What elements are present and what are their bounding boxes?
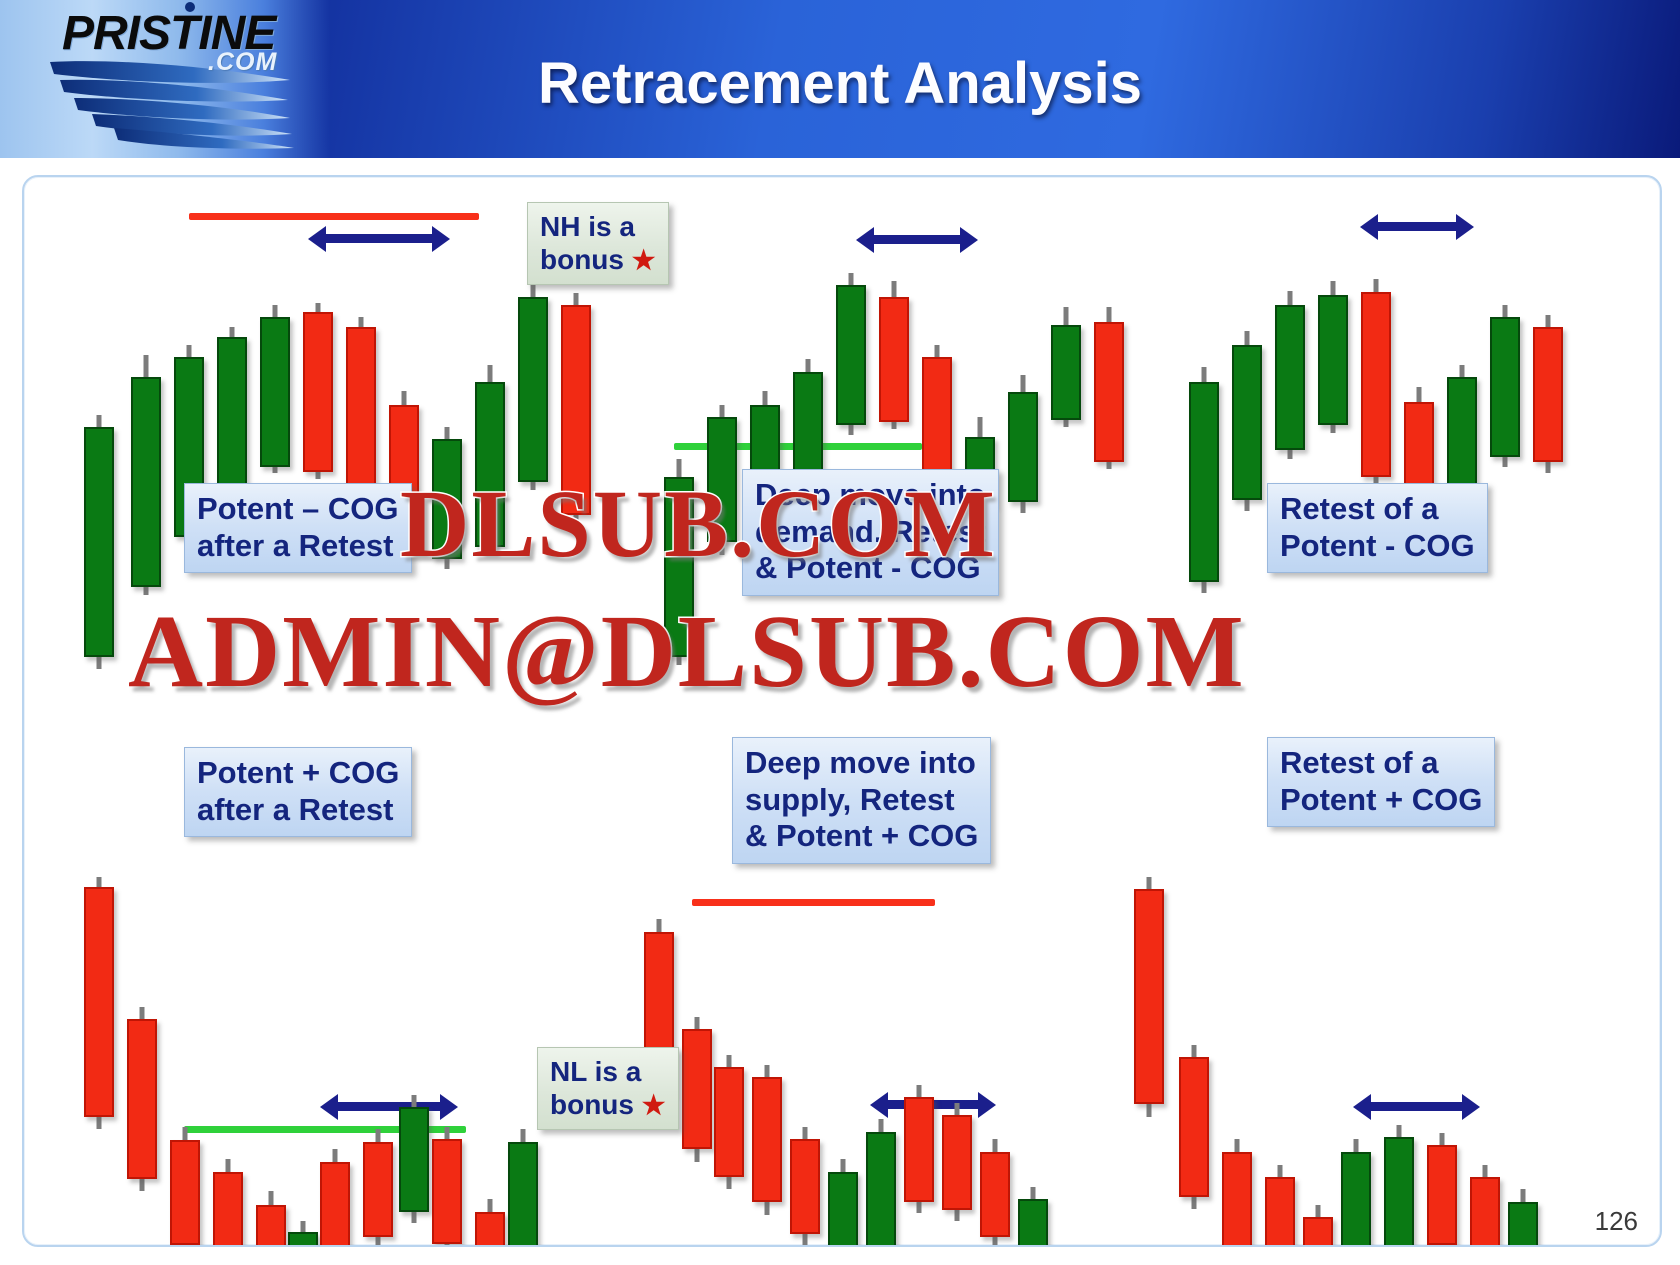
candle-down xyxy=(1134,877,1164,1117)
candle-body xyxy=(320,1162,350,1247)
candle-down xyxy=(1361,279,1391,487)
resistance-line-top-left xyxy=(189,213,479,220)
callout-line: Potent – COG xyxy=(197,491,399,528)
candle-body xyxy=(1265,1177,1295,1247)
candle-body xyxy=(1470,1177,1500,1247)
candle-down xyxy=(84,877,114,1129)
candle-body xyxy=(170,1140,200,1245)
candle-body xyxy=(1490,317,1520,457)
candle-body xyxy=(1427,1145,1457,1245)
candle-down xyxy=(1222,1139,1252,1247)
candle-body xyxy=(1533,327,1563,462)
page-title: Retracement Analysis xyxy=(0,50,1680,117)
candle-up xyxy=(1275,291,1305,459)
candle-down xyxy=(714,1055,744,1189)
candle-up xyxy=(508,1129,538,1247)
candle-body xyxy=(399,1107,429,1212)
callout-line: Potent + COG xyxy=(1280,782,1482,819)
candle-down xyxy=(980,1139,1010,1247)
candle-down xyxy=(320,1149,350,1247)
callout-retest-potent-minus[interactable]: Retest of a Potent - COG xyxy=(1267,483,1488,573)
candle-up xyxy=(1008,375,1038,513)
candle-down xyxy=(1094,307,1124,469)
candle-body xyxy=(1189,382,1219,582)
callout-line: Deep move into xyxy=(745,745,978,782)
page-number: 126 xyxy=(1595,1206,1638,1237)
callout-line: bonus ★ xyxy=(550,1088,666,1121)
resistance-line-bottom-middle xyxy=(692,899,935,906)
candle-body xyxy=(828,1172,858,1247)
candle-body xyxy=(363,1142,393,1237)
callout-line: Retest of a xyxy=(1280,745,1482,782)
candle-body xyxy=(1134,889,1164,1104)
candle-body xyxy=(790,1139,820,1234)
candle-up xyxy=(1189,367,1219,593)
candle-body xyxy=(1275,305,1305,450)
candle-body xyxy=(752,1077,782,1202)
candle-body xyxy=(1341,1152,1371,1247)
slide-header: PRISTINE .COM Retracement Analysis xyxy=(0,0,1680,158)
candle-body xyxy=(866,1132,896,1247)
candle-body xyxy=(1179,1057,1209,1197)
candle-down xyxy=(170,1127,200,1247)
callout-potent-plus-cog[interactable]: Potent + COG after a Retest xyxy=(184,747,412,837)
candle-body xyxy=(942,1115,972,1210)
candle-body xyxy=(714,1067,744,1177)
candle-down xyxy=(475,1199,505,1247)
candle-down xyxy=(752,1065,782,1215)
candle-up xyxy=(1508,1189,1538,1247)
candle-up xyxy=(1490,305,1520,467)
candle-body xyxy=(1384,1137,1414,1247)
candle-up xyxy=(217,327,247,503)
candle-body xyxy=(879,297,909,422)
callout-line: bonus ★ xyxy=(540,243,656,276)
watermark-email: ADMIN@DLSUB.COM xyxy=(128,592,1246,711)
callout-line: NH is a xyxy=(540,210,656,243)
candle-body xyxy=(1094,322,1124,462)
candle-down xyxy=(303,303,333,479)
callout-nl-bonus[interactable]: NL is a bonus ★ xyxy=(537,1047,679,1130)
candle-body xyxy=(1018,1199,1048,1247)
star-icon: ★ xyxy=(642,1090,666,1120)
candle-body xyxy=(904,1097,934,1202)
callout-potent-minus-cog[interactable]: Potent – COG after a Retest xyxy=(184,483,412,573)
candle-down xyxy=(790,1127,820,1245)
candle-body xyxy=(518,297,548,482)
candle-body xyxy=(1303,1217,1333,1247)
candle-up xyxy=(399,1095,429,1223)
candle-body xyxy=(1222,1152,1252,1247)
candle-up xyxy=(518,285,548,490)
candle-down xyxy=(432,1127,462,1247)
candle-up xyxy=(1051,307,1081,427)
candle-body xyxy=(682,1029,712,1149)
candle-body xyxy=(131,377,161,587)
callout-nh-bonus[interactable]: NH is a bonus ★ xyxy=(527,202,669,285)
candle-down xyxy=(256,1191,286,1247)
candle-body xyxy=(1232,345,1262,500)
candle-body xyxy=(508,1142,538,1247)
candle-up xyxy=(1018,1187,1048,1247)
watermark-site: DLSUB.COM xyxy=(400,468,997,579)
retracement-arrow-top-left xyxy=(324,234,434,243)
candle-body xyxy=(288,1232,318,1247)
retracement-arrow-top-right xyxy=(1376,222,1458,231)
candle-body xyxy=(213,1172,243,1247)
candle-body xyxy=(475,1212,505,1247)
candle-down xyxy=(1303,1205,1333,1247)
candle-body xyxy=(303,312,333,472)
callout-line: & Potent + COG xyxy=(745,818,978,855)
candle-up xyxy=(131,355,161,595)
candle-up xyxy=(1318,281,1348,433)
callout-supply-retest[interactable]: Deep move into supply, Retest & Potent +… xyxy=(732,737,991,864)
candle-down xyxy=(1427,1133,1457,1247)
candle-body xyxy=(84,887,114,1117)
candle-up xyxy=(1341,1139,1371,1247)
candle-body xyxy=(260,317,290,467)
candle-down xyxy=(1265,1165,1295,1247)
candle-body xyxy=(127,1019,157,1179)
candle-body xyxy=(1051,325,1081,420)
callout-line: NL is a xyxy=(550,1055,666,1088)
candle-down xyxy=(942,1103,972,1221)
candle-down xyxy=(363,1129,393,1247)
callout-line: supply, Retest xyxy=(745,782,978,819)
retracement-arrow-bottom-right xyxy=(1369,1102,1464,1111)
candle-down xyxy=(127,1007,157,1191)
candle-up xyxy=(866,1119,896,1247)
star-icon: ★ xyxy=(632,245,656,275)
candle-up xyxy=(84,415,114,669)
callout-line: Potent - COG xyxy=(1280,528,1475,565)
candle-body xyxy=(836,285,866,425)
candle-body xyxy=(1447,377,1477,497)
candle-down xyxy=(879,281,909,429)
candle-up xyxy=(260,305,290,473)
candle-down xyxy=(904,1085,934,1213)
candle-up xyxy=(288,1221,318,1247)
candle-body xyxy=(1318,295,1348,425)
candle-down xyxy=(682,1017,712,1162)
retracement-arrow-top-middle xyxy=(872,235,962,244)
candle-body xyxy=(1008,392,1038,502)
callout-line: after a Retest xyxy=(197,792,399,829)
candle-down xyxy=(1179,1045,1209,1209)
candle-down xyxy=(1470,1165,1500,1247)
candle-body xyxy=(84,427,114,657)
candle-up xyxy=(828,1159,858,1247)
candle-down xyxy=(1533,315,1563,473)
candle-body xyxy=(217,337,247,497)
candle-down xyxy=(213,1159,243,1247)
candle-body xyxy=(1508,1202,1538,1247)
candle-body xyxy=(1361,292,1391,477)
candle-body xyxy=(980,1152,1010,1237)
candle-body xyxy=(432,1139,462,1244)
candle-up xyxy=(1384,1125,1414,1247)
callout-line: Retest of a xyxy=(1280,491,1475,528)
candle-body xyxy=(256,1205,286,1247)
callout-retest-potent-plus[interactable]: Retest of a Potent + COG xyxy=(1267,737,1495,827)
candle-up xyxy=(836,273,866,435)
callout-line: after a Retest xyxy=(197,528,399,565)
candle-up xyxy=(1232,331,1262,511)
callout-line: Potent + COG xyxy=(197,755,399,792)
chart-panel: NH is a bonus ★ Potent – COG after a Ret… xyxy=(22,175,1662,1247)
